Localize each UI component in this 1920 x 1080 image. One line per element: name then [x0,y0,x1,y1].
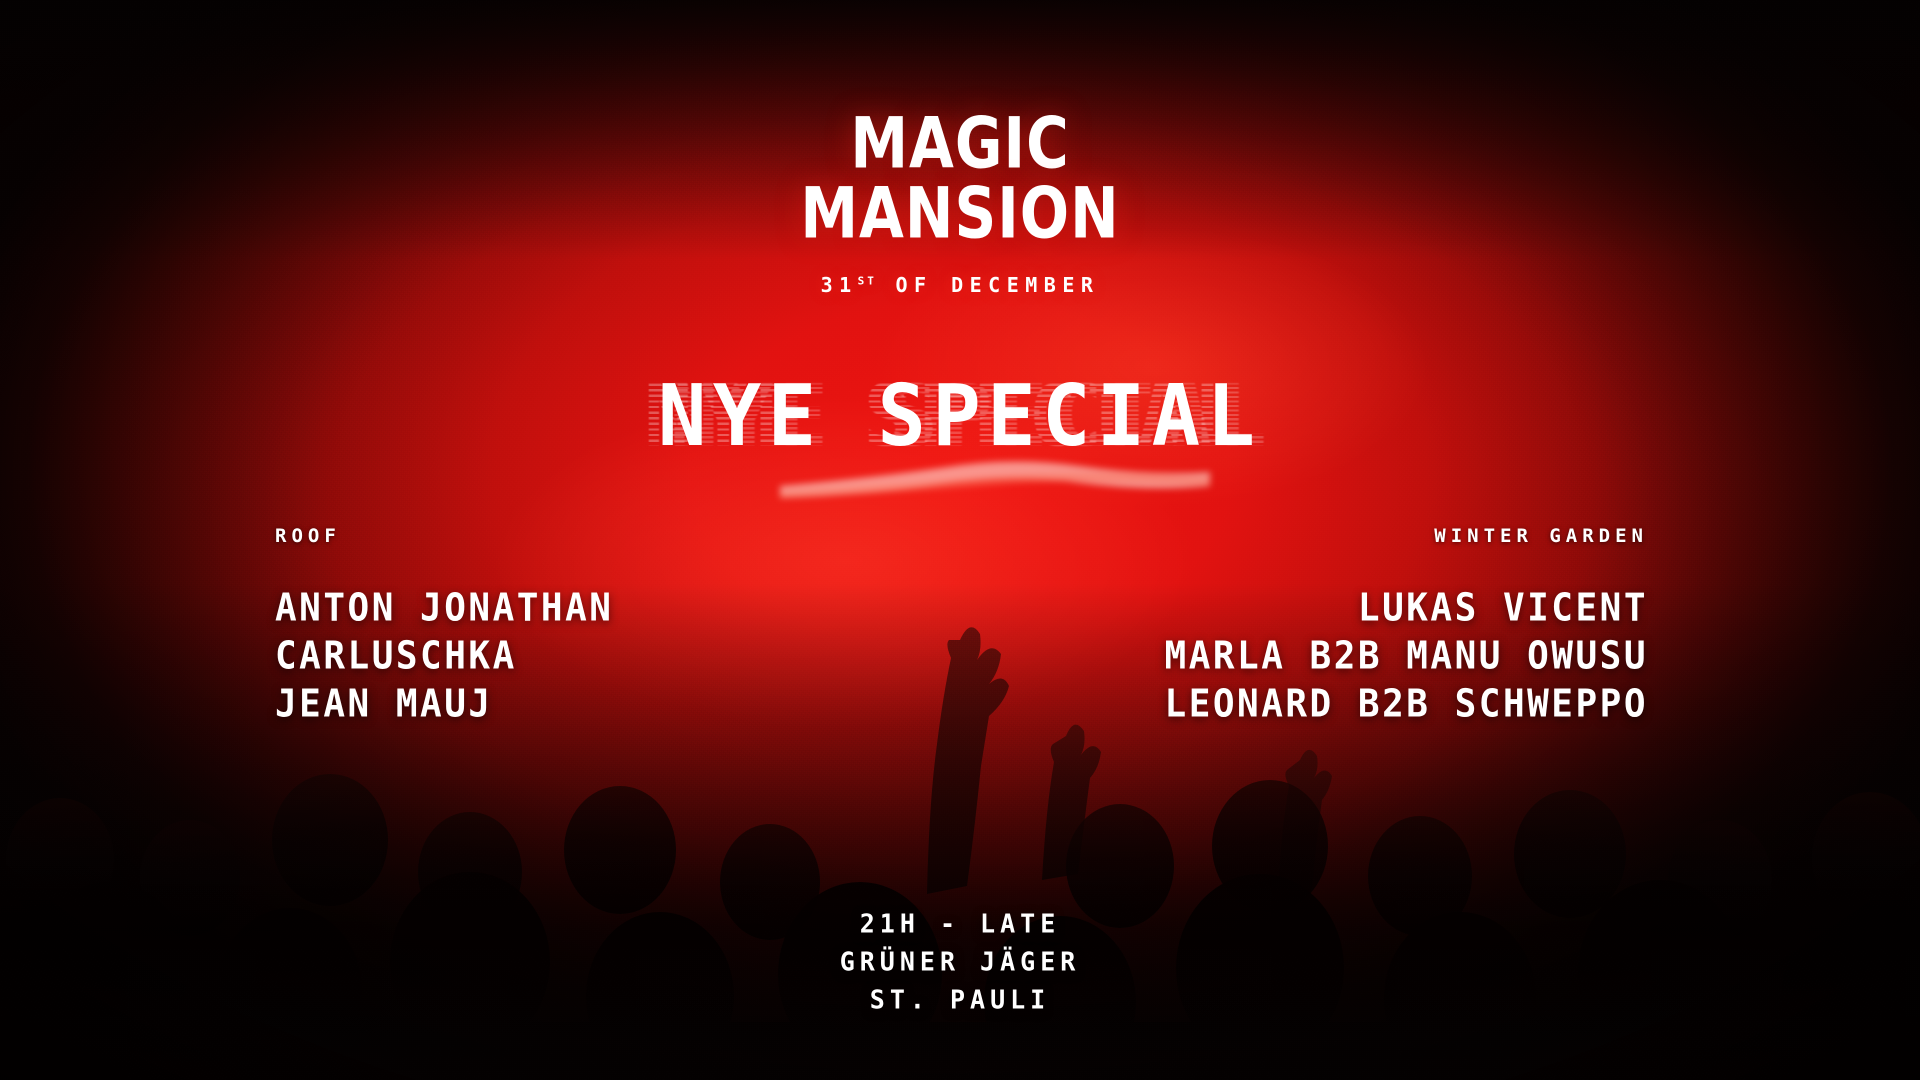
event-date-ordinal: ST [858,275,877,288]
stage-label-roof: ROOF [275,525,613,547]
artist-name: ANTON JONATHAN [275,584,613,635]
artist-list-roof: ANTON JONATHAN CARLUSCHKA JEAN MAUJ [275,585,613,729]
artist-name: CARLUSCHKA [275,631,613,682]
artist-list-winter-garden: LUKAS VICENT MARLA B2B MANU OWUSU LEONAR… [1165,585,1648,729]
event-headline: NYE SPECIAL [658,373,1261,458]
logo-block: MAGIC MANSION 31ST OF DECEMBER [0,110,1920,297]
event-date: 31ST OF DECEMBER [0,273,1920,297]
event-district: ST. PAULI [0,980,1920,1020]
event-date-month: OF DECEMBER [895,273,1099,297]
logo-line-magic: MAGIC [0,110,1920,178]
artist-name: JEAN MAUJ [275,679,613,730]
logo-line-mansion: MANSION [0,180,1920,248]
stage-label-winter-garden: WINTER GARDEN [1165,525,1648,547]
event-venue: GRÜNER JÄGER [0,942,1920,982]
lineup-column-winter-garden: WINTER GARDEN LUKAS VICENT MARLA B2B MAN… [1165,525,1648,729]
headline-wrap: NYE SPECIAL [0,378,1920,454]
artist-name: LEONARD B2B SCHWEPPO [1165,679,1648,730]
event-time: 21H - LATE [0,904,1920,944]
footer-details: 21H - LATE GRÜNER JÄGER ST. PAULI [0,905,1920,1019]
lineup-column-roof: ROOF ANTON JONATHAN CARLUSCHKA JEAN MAUJ [275,525,613,729]
event-poster: MAGIC MANSION 31ST OF DECEMBER NYE SPECI… [0,0,1920,1080]
artist-name: MARLA B2B MANU OWUSU [1165,631,1648,682]
event-date-number: 31 [821,273,858,297]
artist-name: LUKAS VICENT [1165,584,1648,635]
